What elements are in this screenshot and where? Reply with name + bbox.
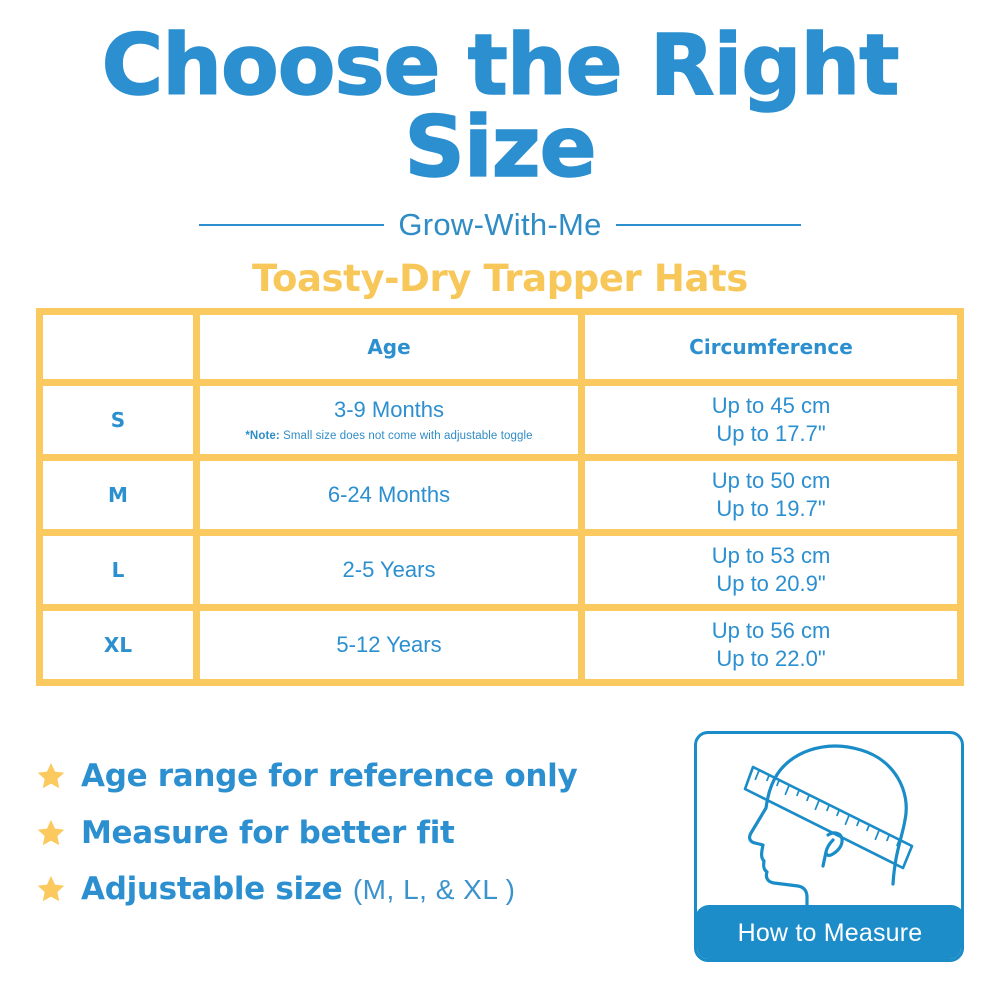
cell-size: S: [43, 386, 193, 454]
column-header-circumference: Circumference: [585, 315, 957, 379]
head-with-measuring-tape-icon: [697, 734, 961, 909]
brand-name: Grow-With-Me: [398, 207, 601, 243]
cell-size: XL: [43, 611, 193, 679]
column-header-size: SIZE: [43, 315, 193, 379]
circumference-in: Up to 19.7": [585, 495, 957, 523]
column-header-age: Age: [200, 315, 578, 379]
list-item-label: Measure for better fit: [81, 817, 455, 850]
brand-subtitle-row: Grow-With-Me: [0, 207, 1000, 243]
star-icon: [36, 874, 66, 904]
circumference-in: Up to 22.0": [585, 645, 957, 673]
cell-size: L: [43, 536, 193, 604]
list-item: Measure for better fit: [36, 817, 656, 850]
cell-age: 2-5 Years: [200, 536, 578, 604]
age-value: 3-9 Months: [334, 397, 444, 422]
list-item-label: Adjustable size (M, L, & XL ): [81, 873, 515, 906]
how-to-measure-label: How to Measure: [738, 919, 923, 948]
size-note: *Note: Small size does not come with adj…: [200, 429, 578, 444]
table-row: L 2-5 Years Up to 53 cm Up to 20.9": [43, 536, 957, 604]
cell-circumference: Up to 50 cm Up to 19.7": [585, 461, 957, 529]
list-item: Adjustable size (M, L, & XL ): [36, 873, 656, 906]
list-item-main-text: Adjustable size: [81, 871, 342, 907]
circumference-cm: Up to 45 cm: [585, 392, 957, 420]
note-text: Small size does not come with adjustable…: [280, 430, 533, 442]
cell-age: 6-24 Months: [200, 461, 578, 529]
divider-right: [616, 224, 801, 226]
tips-list: Age range for reference only Measure for…: [36, 760, 656, 930]
list-item-label: Age range for reference only: [81, 760, 577, 793]
product-name: Toasty-Dry Trapper Hats: [0, 257, 1000, 300]
circumference-in: Up to 20.9": [585, 570, 957, 598]
star-icon: [36, 818, 66, 848]
cell-size: M: [43, 461, 193, 529]
divider-left: [199, 224, 384, 226]
star-icon: [36, 761, 66, 791]
note-prefix: *Note:: [245, 430, 279, 442]
list-item-sizes-note: (M, L, & XL ): [353, 874, 516, 905]
table-row: M 6-24 Months Up to 50 cm Up to 19.7": [43, 461, 957, 529]
cell-age: 5-12 Years: [200, 611, 578, 679]
how-to-measure-button[interactable]: How to Measure: [695, 905, 964, 961]
page-header: Choose the Right Size Grow-With-Me Toast…: [0, 0, 1000, 300]
table-row: XL 5-12 Years Up to 56 cm Up to 22.0": [43, 611, 957, 679]
table-row: S 3-9 Months *Note: Small size does not …: [43, 386, 957, 454]
circumference-cm: Up to 56 cm: [585, 617, 957, 645]
cell-age: 3-9 Months *Note: Small size does not co…: [200, 386, 578, 454]
circumference-cm: Up to 50 cm: [585, 467, 957, 495]
circumference-cm: Up to 53 cm: [585, 542, 957, 570]
list-item: Age range for reference only: [36, 760, 656, 793]
cell-circumference: Up to 56 cm Up to 22.0": [585, 611, 957, 679]
page-title: Choose the Right Size: [0, 24, 1000, 189]
circumference-in: Up to 17.7": [585, 420, 957, 448]
how-to-measure-card[interactable]: How to Measure: [694, 731, 964, 962]
size-chart-table-container: SIZE Age Circumference S 3-9 Months *Not…: [36, 308, 964, 686]
size-chart-table: SIZE Age Circumference S 3-9 Months *Not…: [36, 308, 964, 686]
table-header-row: SIZE Age Circumference: [43, 315, 957, 379]
cell-circumference: Up to 45 cm Up to 17.7": [585, 386, 957, 454]
cell-circumference: Up to 53 cm Up to 20.9": [585, 536, 957, 604]
